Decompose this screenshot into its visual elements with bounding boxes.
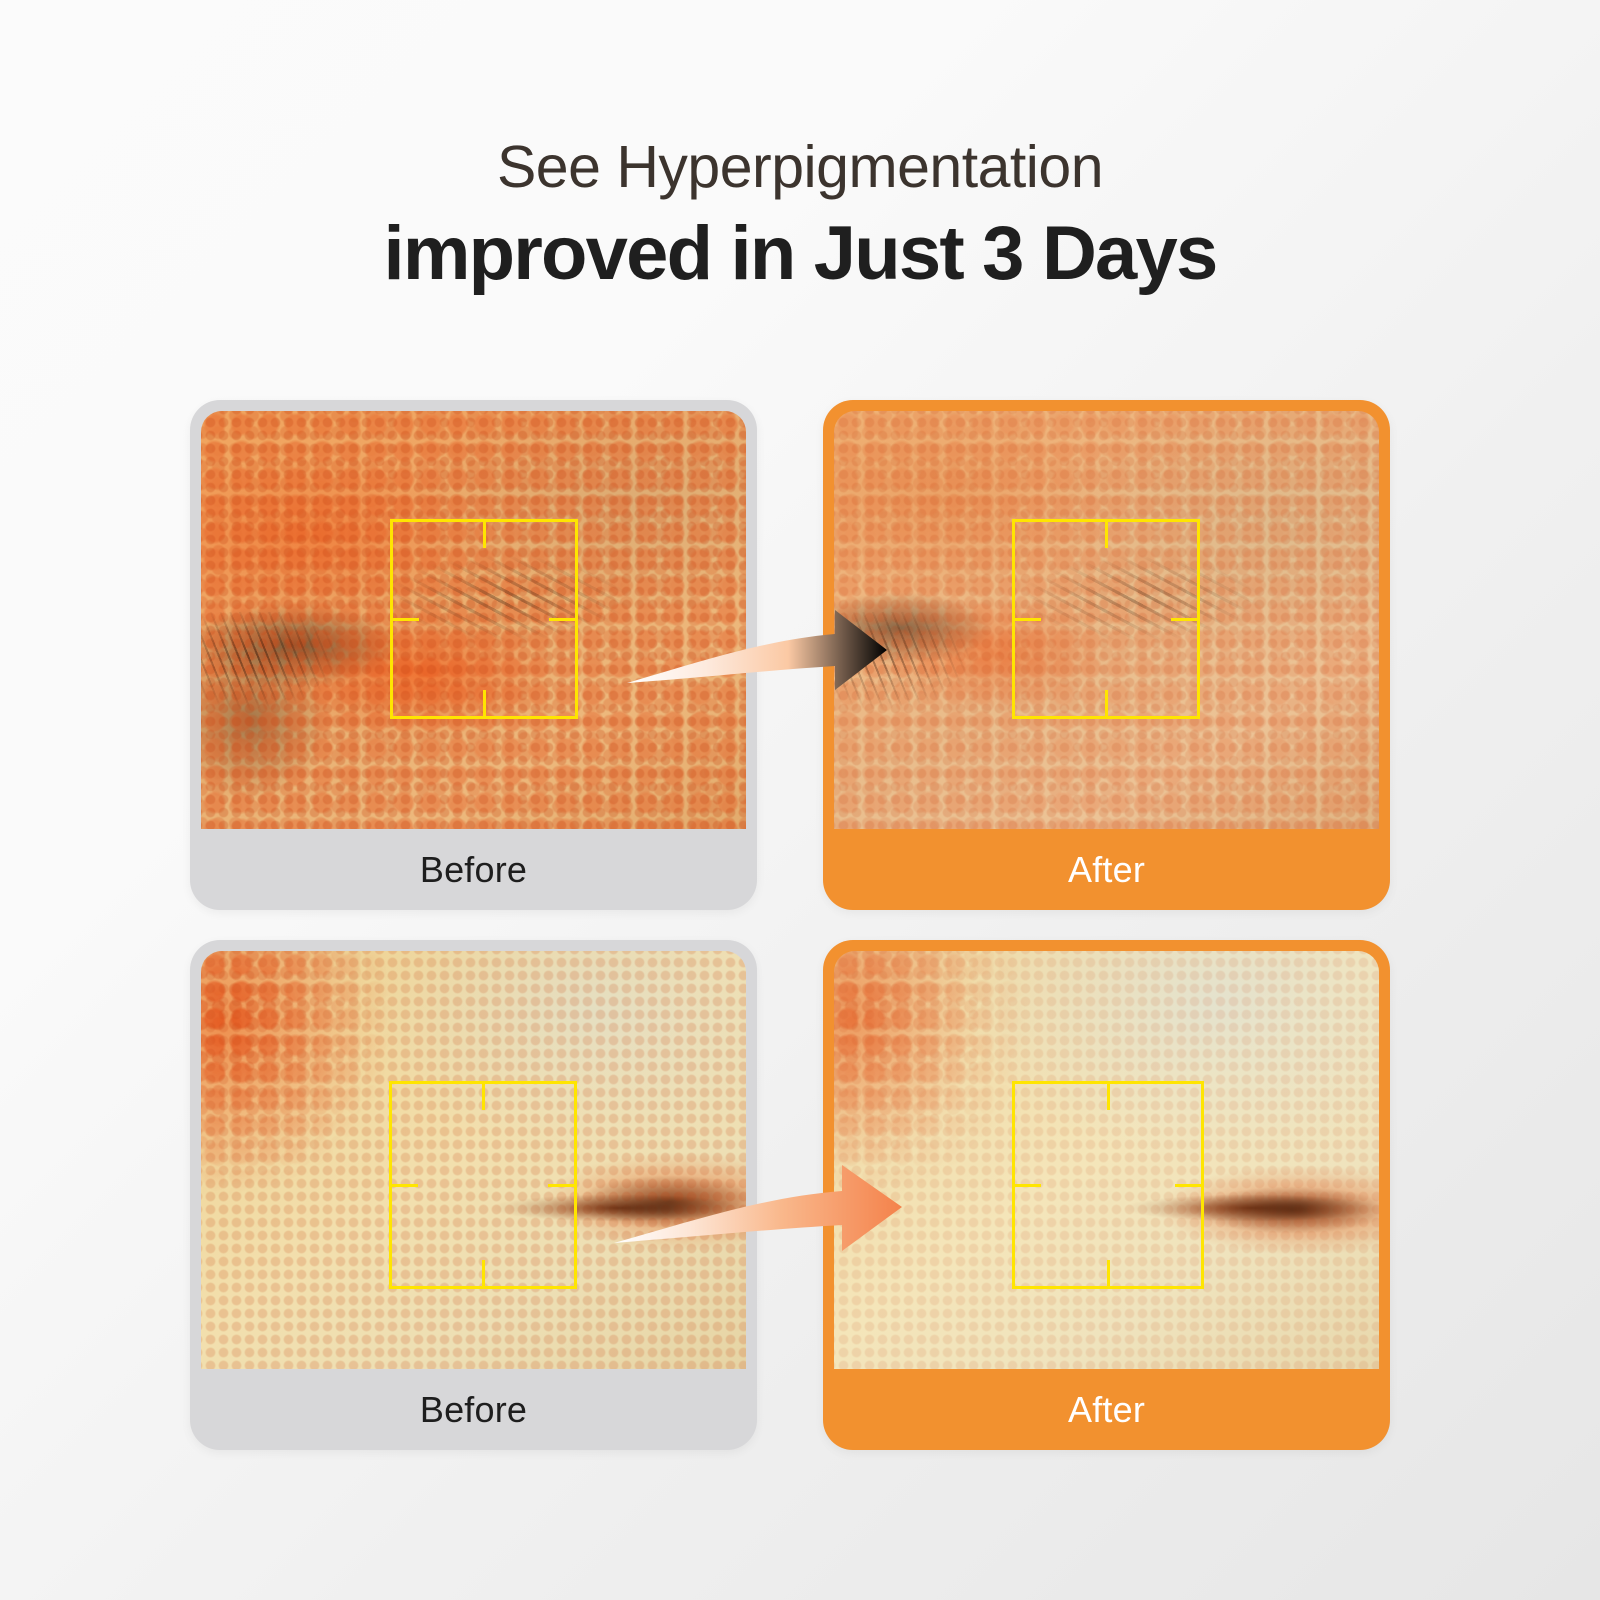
reticle-tick-left [1015,1184,1041,1187]
comparison-card-row1-before[interactable]: Before [190,400,757,910]
reticle-tick-top [483,522,486,548]
skin-photo-row2-before [201,951,746,1369]
page-title: See Hyperpigmentation improved in Just 3… [0,138,1600,296]
reticle-tick-right [1175,1184,1201,1187]
skin-photo-row2-after [834,951,1379,1369]
reticle-tick-top [1105,522,1108,548]
reticle-tick-top [482,1084,485,1110]
reticle-tick-right [548,1184,574,1187]
card-caption-row1-before: Before [201,829,746,910]
before-after-grid: Before After [190,400,1390,1450]
reticle-tick-left [1015,618,1041,621]
focus-reticle-row2-after [1012,1081,1204,1289]
reticle-tick-right [549,618,575,621]
card-caption-row1-after: After [834,829,1379,910]
comparison-card-row2-after[interactable]: After [823,940,1390,1450]
page-title-line-1: See Hyperpigmentation [0,138,1600,197]
reticle-tick-right [1171,618,1197,621]
skin-photo-row1-before [201,411,746,829]
reticle-tick-bottom [482,1260,485,1286]
reticle-tick-left [393,618,419,621]
focus-reticle-row2-before [389,1081,577,1289]
skin-photo-row1-after [834,411,1379,829]
reticle-tick-bottom [483,690,486,716]
card-caption-row2-before: Before [201,1369,746,1450]
card-caption-row2-after: After [834,1369,1379,1450]
reticle-tick-bottom [1105,690,1108,716]
focus-reticle-row1-before [390,519,578,719]
reticle-tick-bottom [1107,1260,1110,1286]
page-title-line-2: improved in Just 3 Days [0,211,1600,296]
comparison-card-row1-after[interactable]: After [823,400,1390,910]
focus-reticle-row1-after [1012,519,1200,719]
reticle-tick-left [392,1184,418,1187]
comparison-card-row2-before[interactable]: Before [190,940,757,1450]
reticle-tick-top [1107,1084,1110,1110]
